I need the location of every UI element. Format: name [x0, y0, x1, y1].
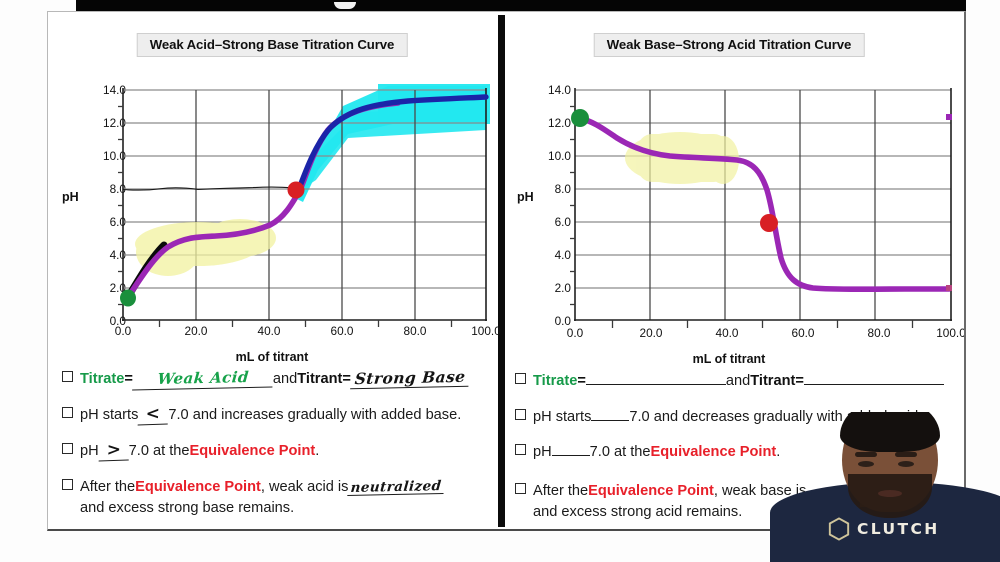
titrant-label-right: Titrant [750, 374, 795, 389]
equivalence-point-highlight-left-1: Equivalence Point [190, 444, 316, 459]
after-answer-left[interactable]: neutralized [348, 479, 445, 496]
checklist-row-equivalence-right[interactable]: pH 7.0 at the Equivalence Point . [515, 442, 953, 461]
checklist-row-ph-starts-right[interactable]: pH starts 7.0 and decreases gradually wi… [515, 406, 953, 425]
edge-marker-bottom-right [946, 285, 952, 291]
checkbox-icon[interactable] [62, 443, 73, 454]
ph-eq-post-right: . [776, 445, 780, 460]
ph-eq-mid-left: 7.0 at the [129, 444, 190, 459]
equivalence-point-right [760, 214, 778, 232]
ph-starts-answer-left[interactable]: < [138, 405, 169, 425]
checkbox-icon[interactable] [62, 407, 73, 418]
plot-svg-right [505, 72, 953, 334]
checklist-row-after-right[interactable]: After the Equivalence Point , weak base … [515, 481, 953, 520]
equivalence-point-highlight-right-1: Equivalence Point [651, 445, 777, 460]
ph-starts-post-left: 7.0 and increases gradually with added b… [168, 408, 461, 423]
titrant-answer-blank-right[interactable] [804, 370, 944, 385]
grid-horizontal-right [575, 90, 951, 288]
ph-eq-pre-right: pH [533, 445, 552, 460]
chart-left: pH 14.0 12.0 10.0 8.0 6.0 4.0 2.0 0.0 0.… [48, 72, 496, 367]
edge-marker-top-right [946, 114, 952, 120]
ph-starts-post-right: 7.0 and decreases gradually with added a… [629, 410, 922, 425]
titrate-label-right: Titrate [533, 374, 577, 389]
equals-right-2: = [795, 374, 804, 389]
panel-weak-base-strong-acid: Weak Base–Strong Acid Titration Curve pH… [505, 12, 953, 531]
and-text-left: and [273, 372, 297, 387]
ph-eq-post-left: . [315, 444, 319, 459]
plot-svg-left [48, 72, 496, 332]
checkbox-icon[interactable] [62, 371, 73, 382]
after-mid-left: , weak acid is [261, 480, 349, 495]
x-minor-ticks-left [160, 320, 452, 327]
initial-ph-point-right [571, 109, 589, 127]
video-top-bar [76, 0, 966, 11]
checklist-row-after-left[interactable]: After the Equivalence Point , weak acid … [62, 480, 494, 515]
equivalence-point-left [288, 182, 305, 199]
ph-eq-mid-right: 7.0 at the [590, 445, 651, 460]
checkbox-icon[interactable] [515, 373, 526, 384]
screen: Weak Acid–Strong Base Titration Curve pH… [0, 0, 1000, 562]
chart-title-right: Weak Base–Strong Acid Titration Curve [594, 33, 865, 57]
and-text-right: and [726, 374, 750, 389]
panel-divider [498, 15, 505, 527]
checkbox-icon[interactable] [515, 483, 526, 494]
titrate-answer-left[interactable]: Weak Acid [132, 370, 274, 391]
checklist-right: Titrate = and Titrant = pH starts 7.0 an… [515, 370, 953, 520]
titrate-label-left: Titrate [80, 372, 124, 387]
ph-eq-pre-left: pH [80, 444, 99, 459]
checklist-row-titrate-left[interactable]: Titrate = Weak Acid and Titrant = Strong… [62, 370, 494, 389]
checklist-row-equivalence-left[interactable]: pH > 7.0 at the Equivalence Point . [62, 442, 494, 461]
initial-ph-point-left [120, 290, 136, 307]
ph-starts-blank-right[interactable] [591, 406, 629, 421]
slide-card: Weak Acid–Strong Base Titration Curve pH… [47, 11, 966, 531]
after-blank-right[interactable] [806, 481, 896, 496]
checkbox-icon[interactable] [515, 409, 526, 420]
video-control-pill-icon[interactable] [334, 2, 356, 9]
equivalence-point-highlight-left-2: Equivalence Point [135, 480, 261, 495]
grid-vertical-right [650, 90, 875, 320]
equals-right-1: = [577, 374, 586, 389]
checklist-row-titrate-right[interactable]: Titrate = and Titrant = [515, 370, 953, 389]
panel-weak-acid-strong-base: Weak Acid–Strong Base Titration Curve pH… [48, 12, 496, 531]
ph-starts-pre-left: pH starts [80, 408, 138, 423]
chart-title-left: Weak Acid–Strong Base Titration Curve [137, 33, 408, 57]
titrate-answer-blank-right[interactable] [586, 370, 726, 385]
x-axis-label-right: mL of titrant [505, 352, 953, 366]
after-sub-right: and excess strong acid remains. [515, 504, 953, 520]
equivalence-point-highlight-right-2: Equivalence Point [588, 484, 714, 499]
after-sub-left: and excess strong base remains. [62, 500, 494, 516]
checklist-left: Titrate = Weak Acid and Titrant = Strong… [62, 370, 494, 516]
checklist-row-ph-starts-left[interactable]: pH starts < 7.0 and increases gradually … [62, 406, 494, 425]
checkbox-icon[interactable] [62, 479, 73, 490]
after-mid-right: , weak base is [714, 484, 806, 499]
ph-eq-answer-left[interactable]: > [98, 441, 129, 461]
ph-eq-blank-right[interactable] [552, 442, 590, 457]
after-pre-right: After the [533, 484, 588, 499]
after-pre-left: After the [80, 480, 135, 495]
ph-starts-pre-right: pH starts [533, 410, 591, 425]
chart-right: pH 14.0 12.0 10.0 8.0 6.0 4.0 2.0 0.0 0.… [505, 72, 953, 367]
titrant-answer-left[interactable]: Strong Base [350, 369, 470, 390]
titrant-label-left: Titrant [297, 372, 342, 387]
checkbox-icon[interactable] [515, 444, 526, 455]
x-axis-label-left: mL of titrant [48, 350, 496, 364]
x-minor-ticks-right [613, 320, 913, 328]
